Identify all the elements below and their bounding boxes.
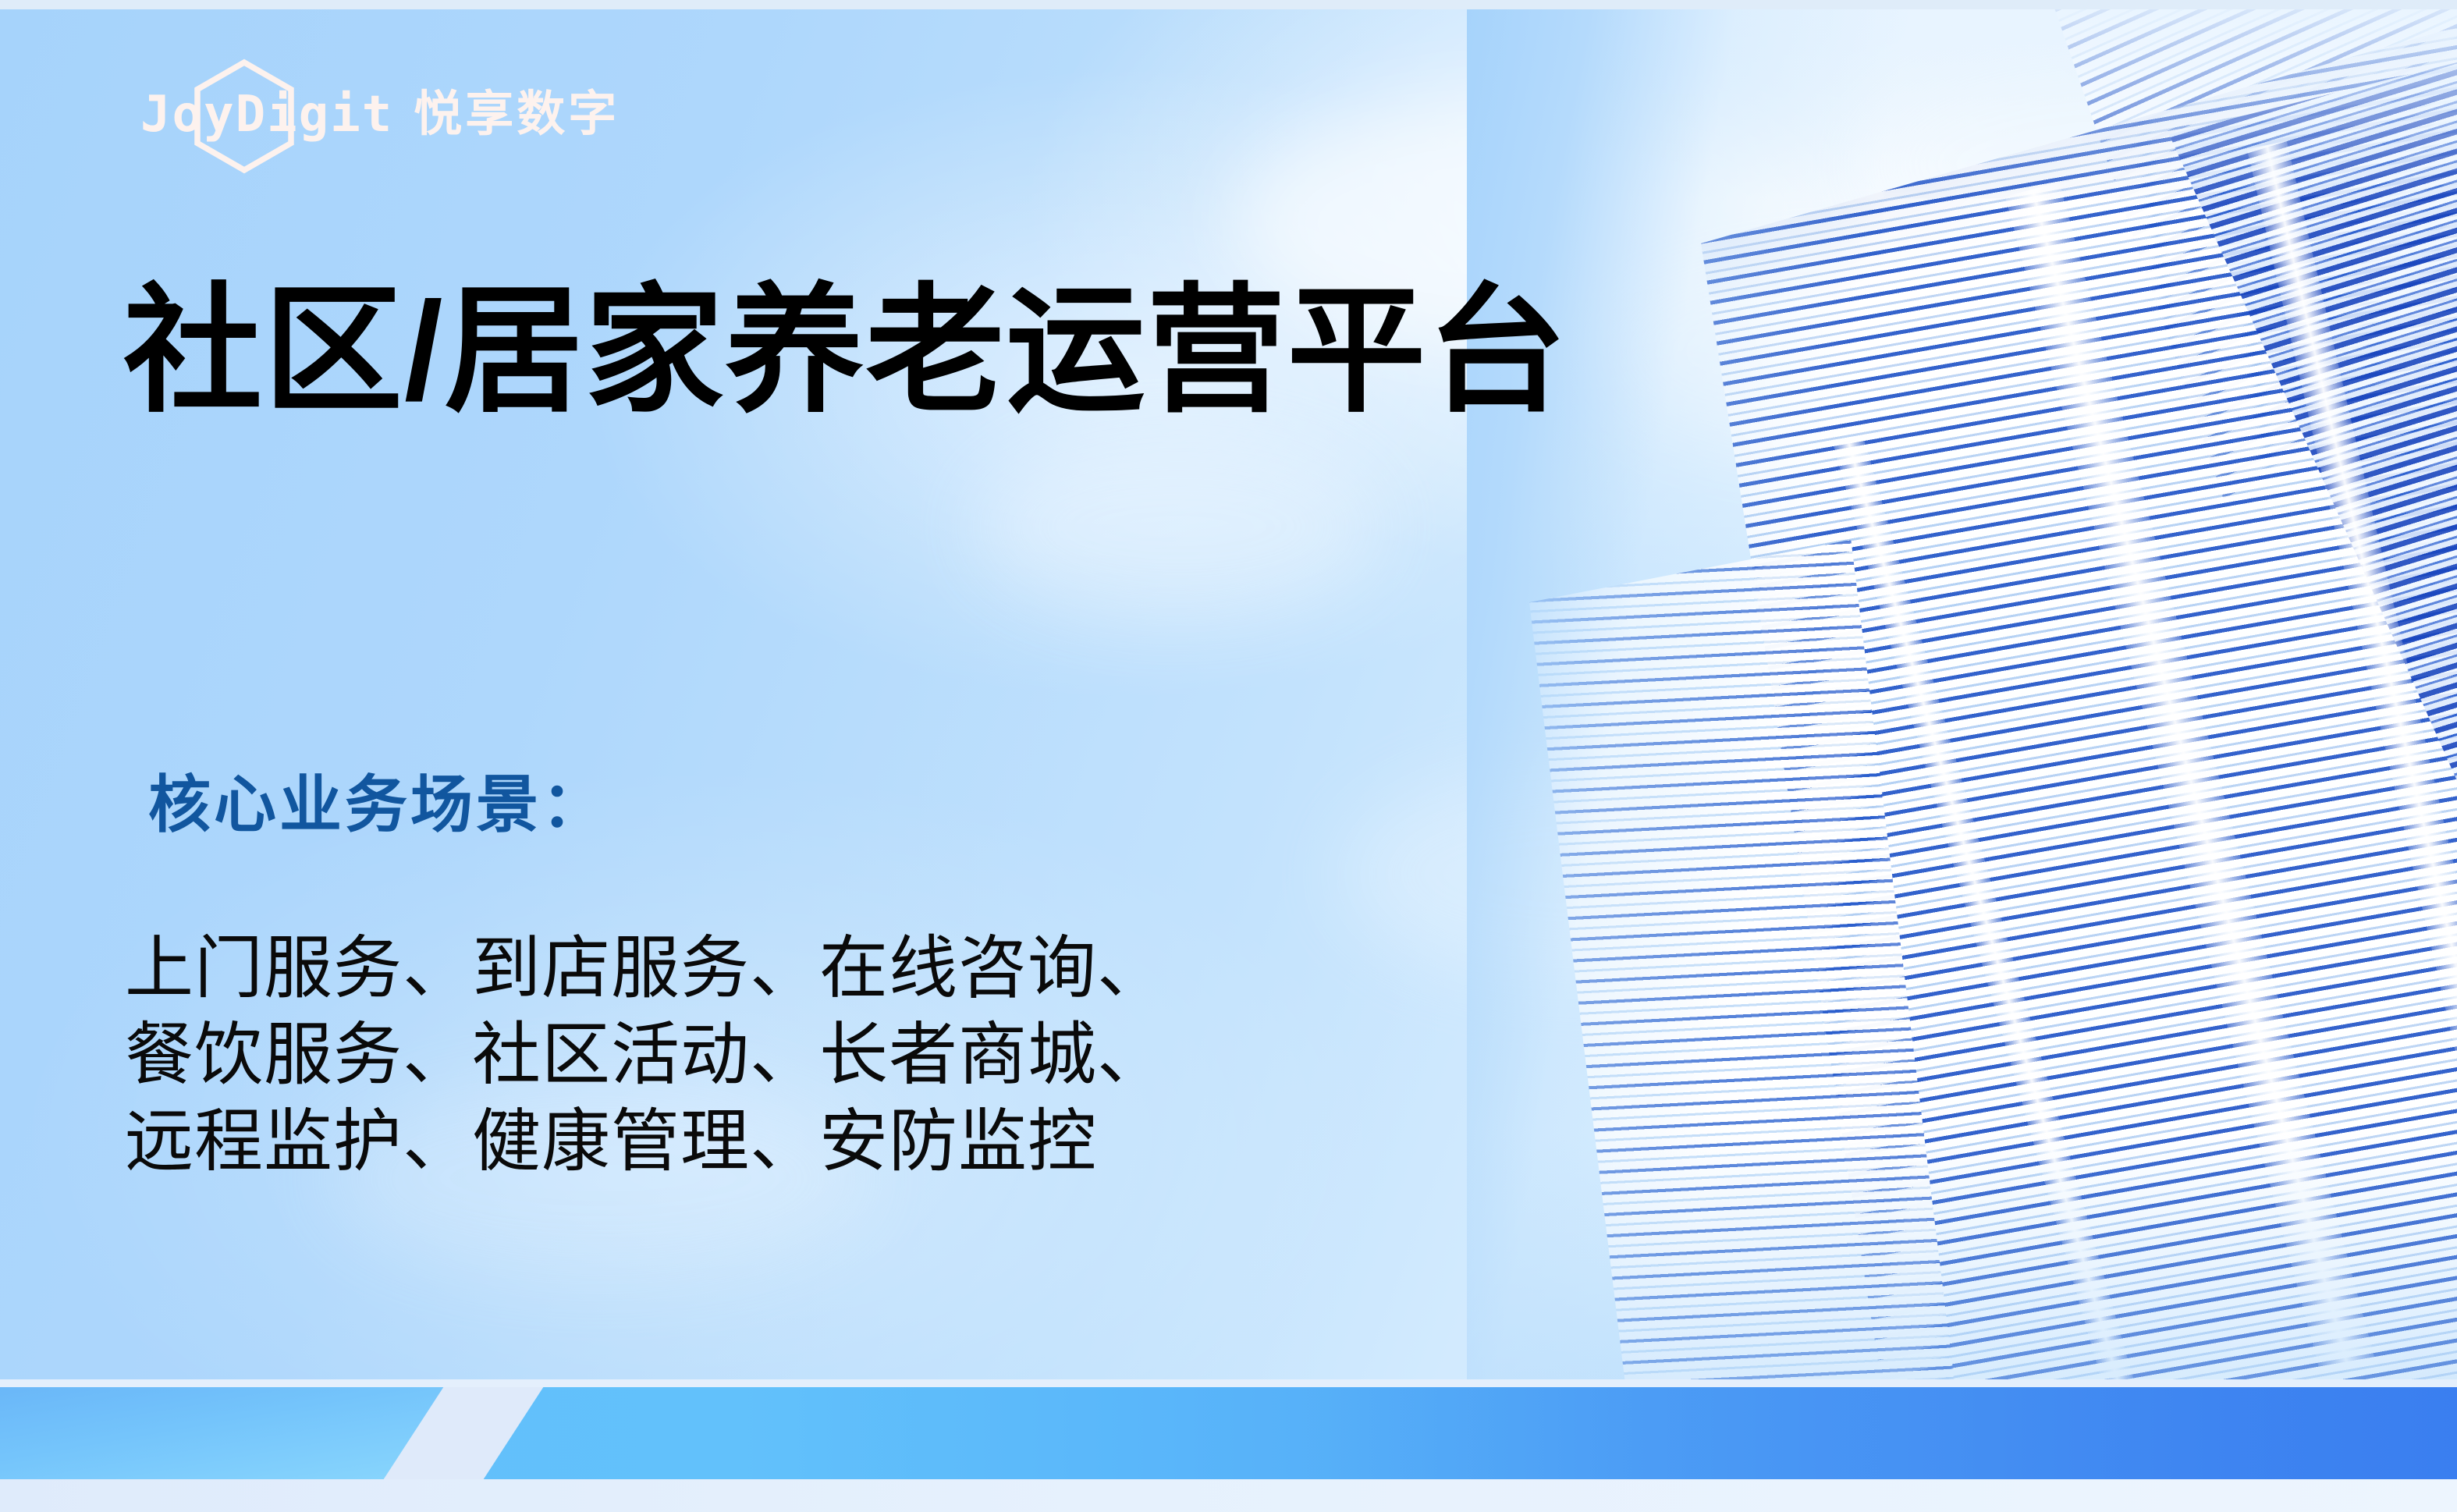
slide-canvas: JoyDigit 悦享数字 社区/居家养老运营平台 核心业务场景： 上门服务、到…: [0, 0, 2457, 1512]
scenario-line: 上门服务、到店服务、在线咨询、: [125, 925, 1166, 1012]
brand-logo-wordmark: JoyDigit: [140, 90, 393, 140]
page-title: 社区/居家养老运营平台: [123, 275, 1568, 428]
band-bottom-pale-strip: [0, 1479, 2457, 1512]
scenario-line: 餐饮服务、社区活动、长者商城、: [125, 1012, 1166, 1099]
brand-logo-chinese-name: 悦享数字: [414, 91, 620, 139]
band-right-deep-overlay: [1311, 1387, 2457, 1479]
footer-decoration-band: [0, 1379, 2457, 1512]
core-scenarios-list: 上门服务、到店服务、在线咨询、 餐饮服务、社区活动、长者商城、 远程监护、健康管…: [125, 925, 1166, 1185]
scenario-line: 远程监护、健康管理、安防监控: [125, 1099, 1166, 1185]
section-heading-core-scenarios: 核心业务场景：: [148, 771, 607, 839]
top-edge-strip: [0, 0, 2457, 9]
brand-logo[interactable]: JoyDigit 悦享数字: [140, 72, 620, 158]
